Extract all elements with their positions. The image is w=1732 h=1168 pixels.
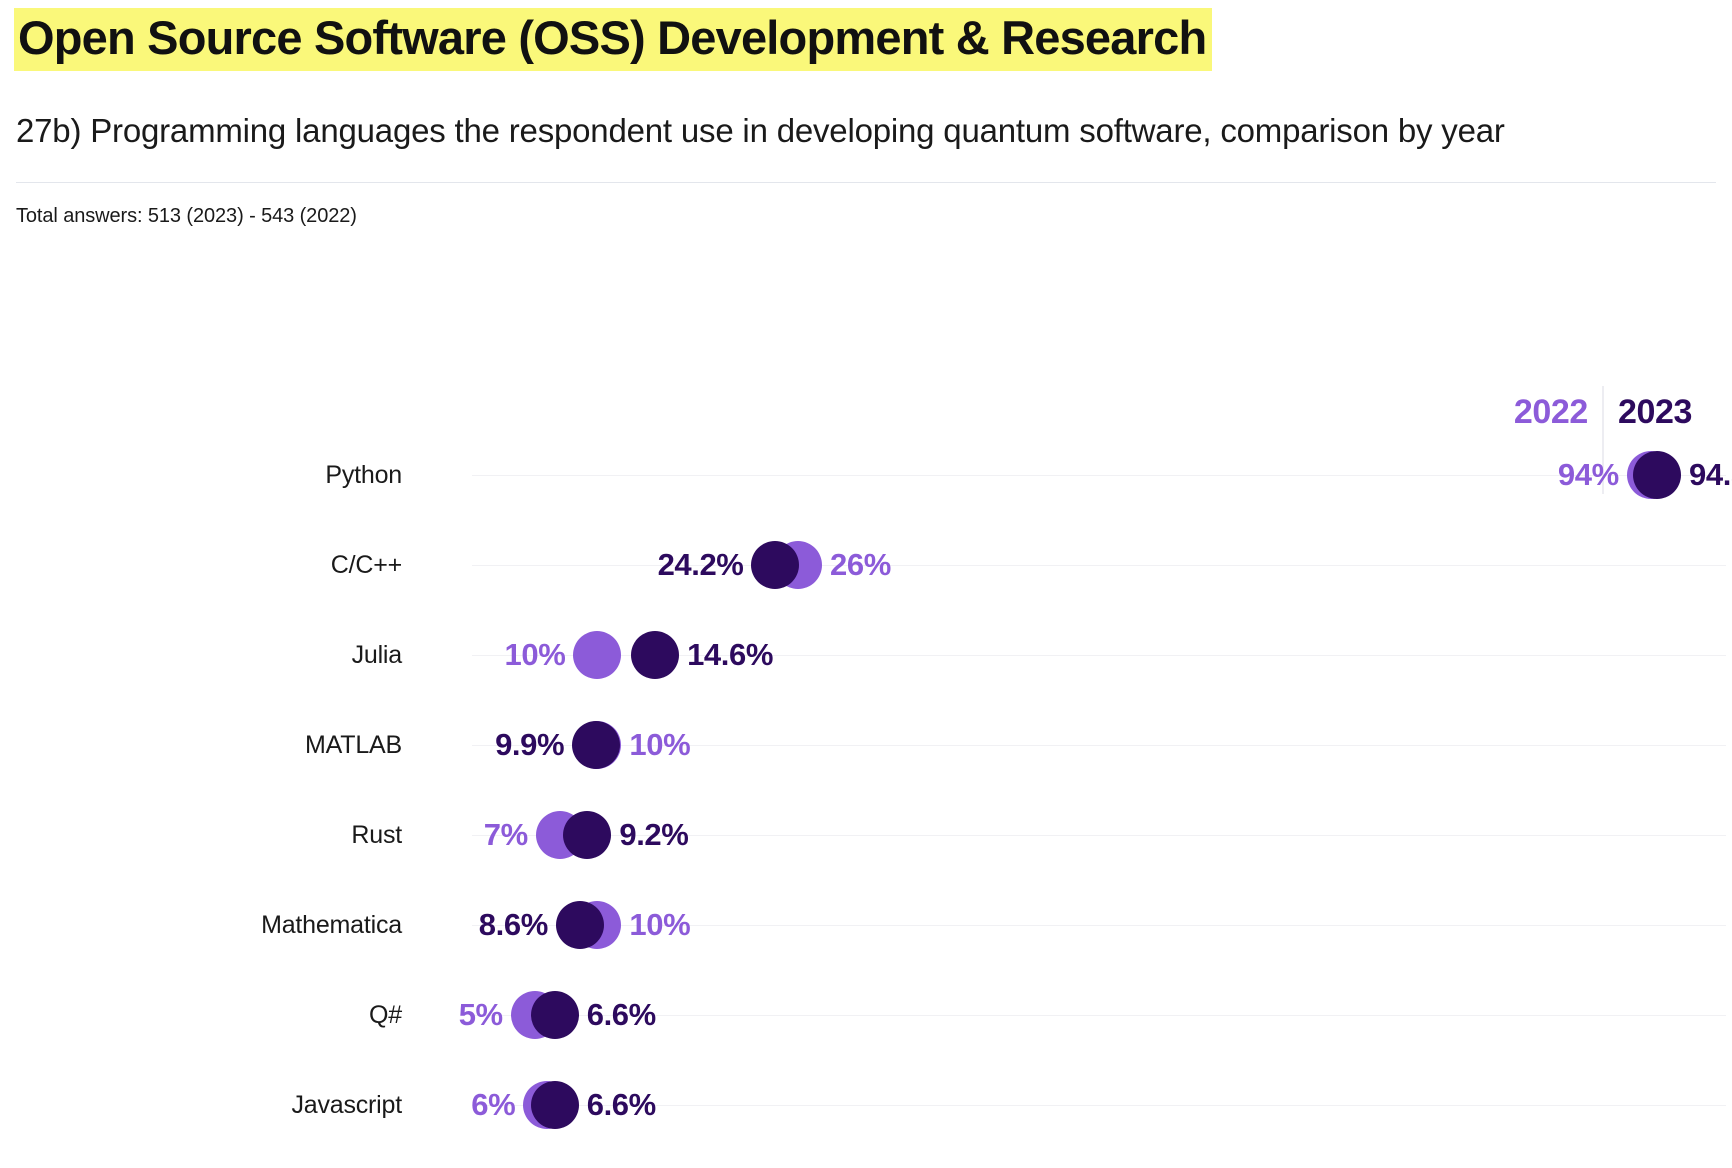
value-label-2022: 7% <box>484 817 528 853</box>
total-answers-label: Total answers: 513 (2023) - 543 (2022) <box>16 205 1732 228</box>
data-dot-2023[interactable] <box>631 631 679 679</box>
value-label-2022: 94% <box>1558 457 1619 493</box>
category-label: Julia <box>0 610 420 700</box>
dot-plot-chart: Python94%94.5%C/C++24.2%26%Julia10%14.6%… <box>0 430 1732 1130</box>
category-label: C/C++ <box>0 520 420 610</box>
chart-row: C/C++24.2%26% <box>0 520 1732 610</box>
value-label-2023: 9.9% <box>495 727 564 763</box>
gridline <box>472 475 1726 476</box>
category-label: Rust <box>0 790 420 880</box>
value-label-2023: 9.2% <box>619 817 688 853</box>
chart-legend: 2022 2023 <box>1500 390 1706 434</box>
chart-row: MATLAB9.9%10% <box>0 700 1732 790</box>
value-label-2022: 26% <box>830 547 891 583</box>
chart-row: Rust7%9.2% <box>0 790 1732 880</box>
header-divider <box>16 182 1716 183</box>
chart-subtitle: 27b) Programming languages the responden… <box>16 109 1656 153</box>
data-dot-2023[interactable] <box>563 811 611 859</box>
value-label-2022: 10% <box>505 637 566 673</box>
data-dot-2023[interactable] <box>531 1081 579 1129</box>
data-dot-2023[interactable] <box>751 541 799 589</box>
value-label-2022: 10% <box>629 727 690 763</box>
category-label: Javascript <box>0 1060 420 1150</box>
chart-page: Open Source Software (OSS) Development &… <box>0 0 1732 1168</box>
chart-row: Mathematica8.6%10% <box>0 880 1732 970</box>
chart-row: Python94%94.5% <box>0 430 1732 520</box>
value-label-2023: 24.2% <box>658 547 744 583</box>
value-label-2022: 6% <box>471 1087 515 1123</box>
data-dot-2022[interactable] <box>573 631 621 679</box>
value-label-2023: 14.6% <box>687 637 773 673</box>
data-dot-2023[interactable] <box>531 991 579 1039</box>
data-dot-2023[interactable] <box>556 901 604 949</box>
gridline <box>472 1015 1726 1016</box>
legend-item-2023[interactable]: 2023 <box>1604 393 1706 432</box>
chart-row: Javascript6%6.6% <box>0 1060 1732 1150</box>
chart-row: Q#5%6.6% <box>0 970 1732 1060</box>
category-label: Mathematica <box>0 880 420 970</box>
category-label: MATLAB <box>0 700 420 790</box>
title-container: Open Source Software (OSS) Development &… <box>0 0 1732 71</box>
data-dot-2023[interactable] <box>572 721 620 769</box>
value-label-2022: 10% <box>629 907 690 943</box>
row-track: 9.9%10% <box>472 700 1726 790</box>
value-label-2023: 6.6% <box>587 1087 656 1123</box>
row-track: 6%6.6% <box>472 1060 1726 1150</box>
row-track: 94%94.5% <box>472 430 1726 520</box>
value-label-2023: 6.6% <box>587 997 656 1033</box>
category-label: Python <box>0 430 420 520</box>
row-track: 5%6.6% <box>472 970 1726 1060</box>
page-title: Open Source Software (OSS) Development &… <box>14 8 1212 71</box>
data-dot-2023[interactable] <box>1633 451 1681 499</box>
row-track: 8.6%10% <box>472 880 1726 970</box>
row-track: 10%14.6% <box>472 610 1726 700</box>
value-label-2023: 8.6% <box>479 907 548 943</box>
gridline <box>472 1105 1726 1106</box>
row-track: 7%9.2% <box>472 790 1726 880</box>
value-label-2023: 94.5% <box>1689 457 1732 493</box>
row-track: 24.2%26% <box>472 520 1726 610</box>
value-label-2022: 5% <box>459 997 503 1033</box>
category-label: Q# <box>0 970 420 1060</box>
chart-row: Julia10%14.6% <box>0 610 1732 700</box>
legend-item-2022[interactable]: 2022 <box>1500 393 1602 432</box>
